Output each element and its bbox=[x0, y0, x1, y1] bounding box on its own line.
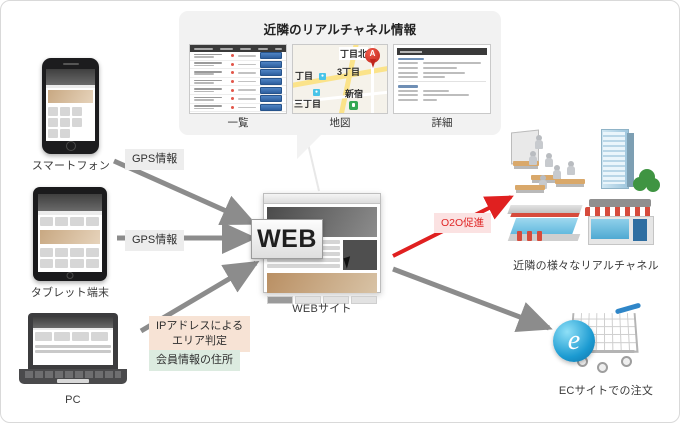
diagram-canvas: 近隣のリアルチャネル情報 丁目北 3丁目 丁目 新宿 三丁目 bbox=[0, 0, 680, 423]
pc-trackpad[interactable] bbox=[57, 379, 89, 383]
table-row[interactable] bbox=[190, 52, 286, 61]
detail-field bbox=[398, 99, 486, 101]
home-button[interactable] bbox=[67, 272, 74, 279]
detail-divider bbox=[398, 81, 486, 82]
web-badge: WEB bbox=[251, 219, 323, 259]
callout-title: 近隣のリアルチャネル情報 bbox=[179, 19, 501, 38]
detail-header bbox=[397, 48, 487, 55]
device-label-pc: PC bbox=[43, 394, 103, 406]
connector-label-member-address: 会員情報の住所 bbox=[149, 350, 240, 371]
illustration-seminar bbox=[509, 131, 595, 197]
detail-section-title bbox=[398, 85, 418, 87]
device-pc[interactable] bbox=[19, 313, 127, 391]
illustration-tree bbox=[633, 169, 661, 195]
table-row[interactable] bbox=[190, 61, 286, 70]
illustration-store bbox=[509, 201, 581, 245]
detail-field bbox=[398, 94, 486, 96]
illustration-shop bbox=[585, 199, 655, 251]
detail-field bbox=[398, 67, 486, 69]
callout-tail bbox=[297, 133, 323, 159]
map-label: 三丁目 bbox=[294, 97, 321, 110]
table-row[interactable] bbox=[190, 69, 286, 78]
pc-keyboard[interactable] bbox=[25, 371, 121, 378]
illustration-office-building bbox=[601, 129, 635, 191]
device-label-smartphone: スマートフォン bbox=[30, 157, 112, 173]
ip-area-line2: エリア判定 bbox=[172, 335, 227, 347]
illustration-shopping-cart: e bbox=[553, 306, 645, 380]
connector-label-o2o: O2O促進 bbox=[434, 213, 491, 233]
tablet-screen bbox=[38, 194, 102, 272]
speaker-slot bbox=[63, 63, 79, 65]
map-transit-icon: ● bbox=[319, 73, 326, 80]
web-site-label: WEBサイト bbox=[263, 300, 381, 316]
ip-area-line1: IPアドレスによる bbox=[156, 320, 243, 332]
pc-lid bbox=[28, 313, 118, 369]
map-transit-icon: ● bbox=[313, 89, 320, 96]
outcome-label-real-channels: 近隣の様々なリアルチャネル bbox=[511, 257, 661, 273]
panel-caption-detail: 詳細 bbox=[393, 115, 491, 130]
table-row[interactable] bbox=[190, 78, 286, 87]
map-label: 丁目 bbox=[295, 69, 313, 82]
map-pin-a[interactable]: A bbox=[365, 48, 380, 68]
nearby-channel-callout: 近隣のリアルチャネル情報 丁目北 3丁目 丁目 新宿 三丁目 bbox=[179, 11, 501, 135]
e-commerce-icon: e bbox=[553, 320, 595, 362]
map-label: 3丁目 bbox=[337, 65, 360, 78]
detail-field bbox=[398, 72, 486, 74]
device-smartphone[interactable] bbox=[42, 58, 99, 154]
outcome-label-ec-order: ECサイトでの注文 bbox=[541, 382, 671, 398]
panel-detail[interactable] bbox=[393, 44, 491, 114]
smartphone-screen bbox=[46, 69, 95, 141]
site-photo bbox=[267, 273, 377, 293]
connector-label-gps-smartphone: GPS情報 bbox=[125, 149, 184, 170]
map-poi-icon bbox=[349, 101, 358, 110]
pc-screen bbox=[33, 317, 113, 365]
list-table-header bbox=[190, 45, 286, 52]
panel-caption-list: 一覧 bbox=[189, 115, 287, 130]
map-label: 丁目北 bbox=[339, 47, 368, 60]
panel-list[interactable] bbox=[189, 44, 287, 114]
device-label-tablet: タブレット端末 bbox=[25, 284, 115, 300]
connector-label-gps-tablet: GPS情報 bbox=[125, 230, 184, 251]
home-button[interactable] bbox=[66, 141, 76, 151]
detail-field bbox=[398, 62, 486, 64]
browser-chrome bbox=[264, 194, 380, 204]
table-row[interactable] bbox=[190, 95, 286, 104]
map-label: 新宿 bbox=[345, 87, 363, 100]
panel-map[interactable]: 丁目北 3丁目 丁目 新宿 三丁目 ● ● A bbox=[292, 44, 388, 114]
detail-section-title bbox=[398, 58, 424, 60]
panel-caption-map: 地図 bbox=[292, 115, 388, 130]
detail-field bbox=[398, 90, 486, 92]
web-site-browser[interactable]: WEB bbox=[263, 193, 381, 293]
table-row[interactable] bbox=[190, 86, 286, 95]
connector-label-ip-area: IPアドレスによる エリア判定 bbox=[149, 316, 250, 352]
table-row[interactable] bbox=[190, 104, 286, 113]
map-pin-letter: A bbox=[365, 49, 380, 58]
device-tablet[interactable] bbox=[33, 187, 107, 281]
detail-field bbox=[398, 76, 486, 78]
